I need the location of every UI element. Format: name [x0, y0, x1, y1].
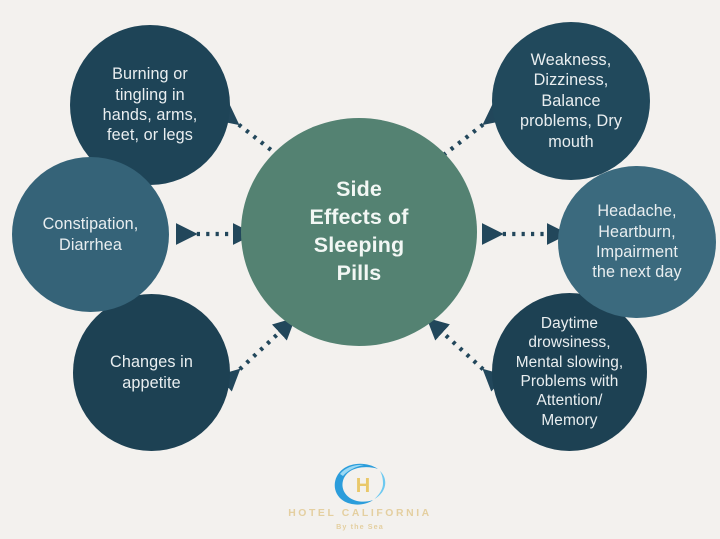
node-label: Daytime drowsiness, Mental slowing, Prob…: [516, 314, 624, 430]
infographic-canvas: Burning or tingling in hands, arms, feet…: [0, 0, 720, 539]
hotel-california-c-swoosh-icon: H: [328, 461, 392, 507]
node-headache-heartburn[interactable]: Headache, Heartburn, Impairment the next…: [558, 166, 716, 318]
connector-bottom-right: [441, 331, 497, 382]
node-label: Constipation, Diarrhea: [43, 214, 139, 255]
connector-top-left: [224, 113, 280, 157]
node-weakness-dizziness[interactable]: Weakness, Dizziness, Balance problems, D…: [492, 22, 650, 180]
logo-name: HOTEL CALIFORNIA: [288, 508, 432, 519]
connector-bottom-left: [226, 331, 281, 382]
center-node-label: Side Effects of Sleeping Pills: [310, 176, 409, 288]
brand-logo: H HOTEL CALIFORNIA By the Sea: [0, 461, 720, 531]
logo-tagline: By the Sea: [336, 522, 384, 531]
node-label: Weakness, Dizziness, Balance problems, D…: [520, 50, 622, 152]
node-label: Headache, Heartburn, Impairment the next…: [592, 201, 681, 283]
connector-top-right: [441, 113, 498, 157]
svg-text:H: H: [356, 475, 370, 497]
node-label: Burning or tingling in hands, arms, feet…: [103, 64, 198, 146]
node-changes-in-appetite[interactable]: Changes in appetite: [73, 294, 230, 451]
node-label: Changes in appetite: [110, 352, 193, 393]
center-node-side-effects[interactable]: Side Effects of Sleeping Pills: [241, 118, 477, 346]
node-constipation-diarrhea[interactable]: Constipation, Diarrhea: [12, 157, 169, 312]
